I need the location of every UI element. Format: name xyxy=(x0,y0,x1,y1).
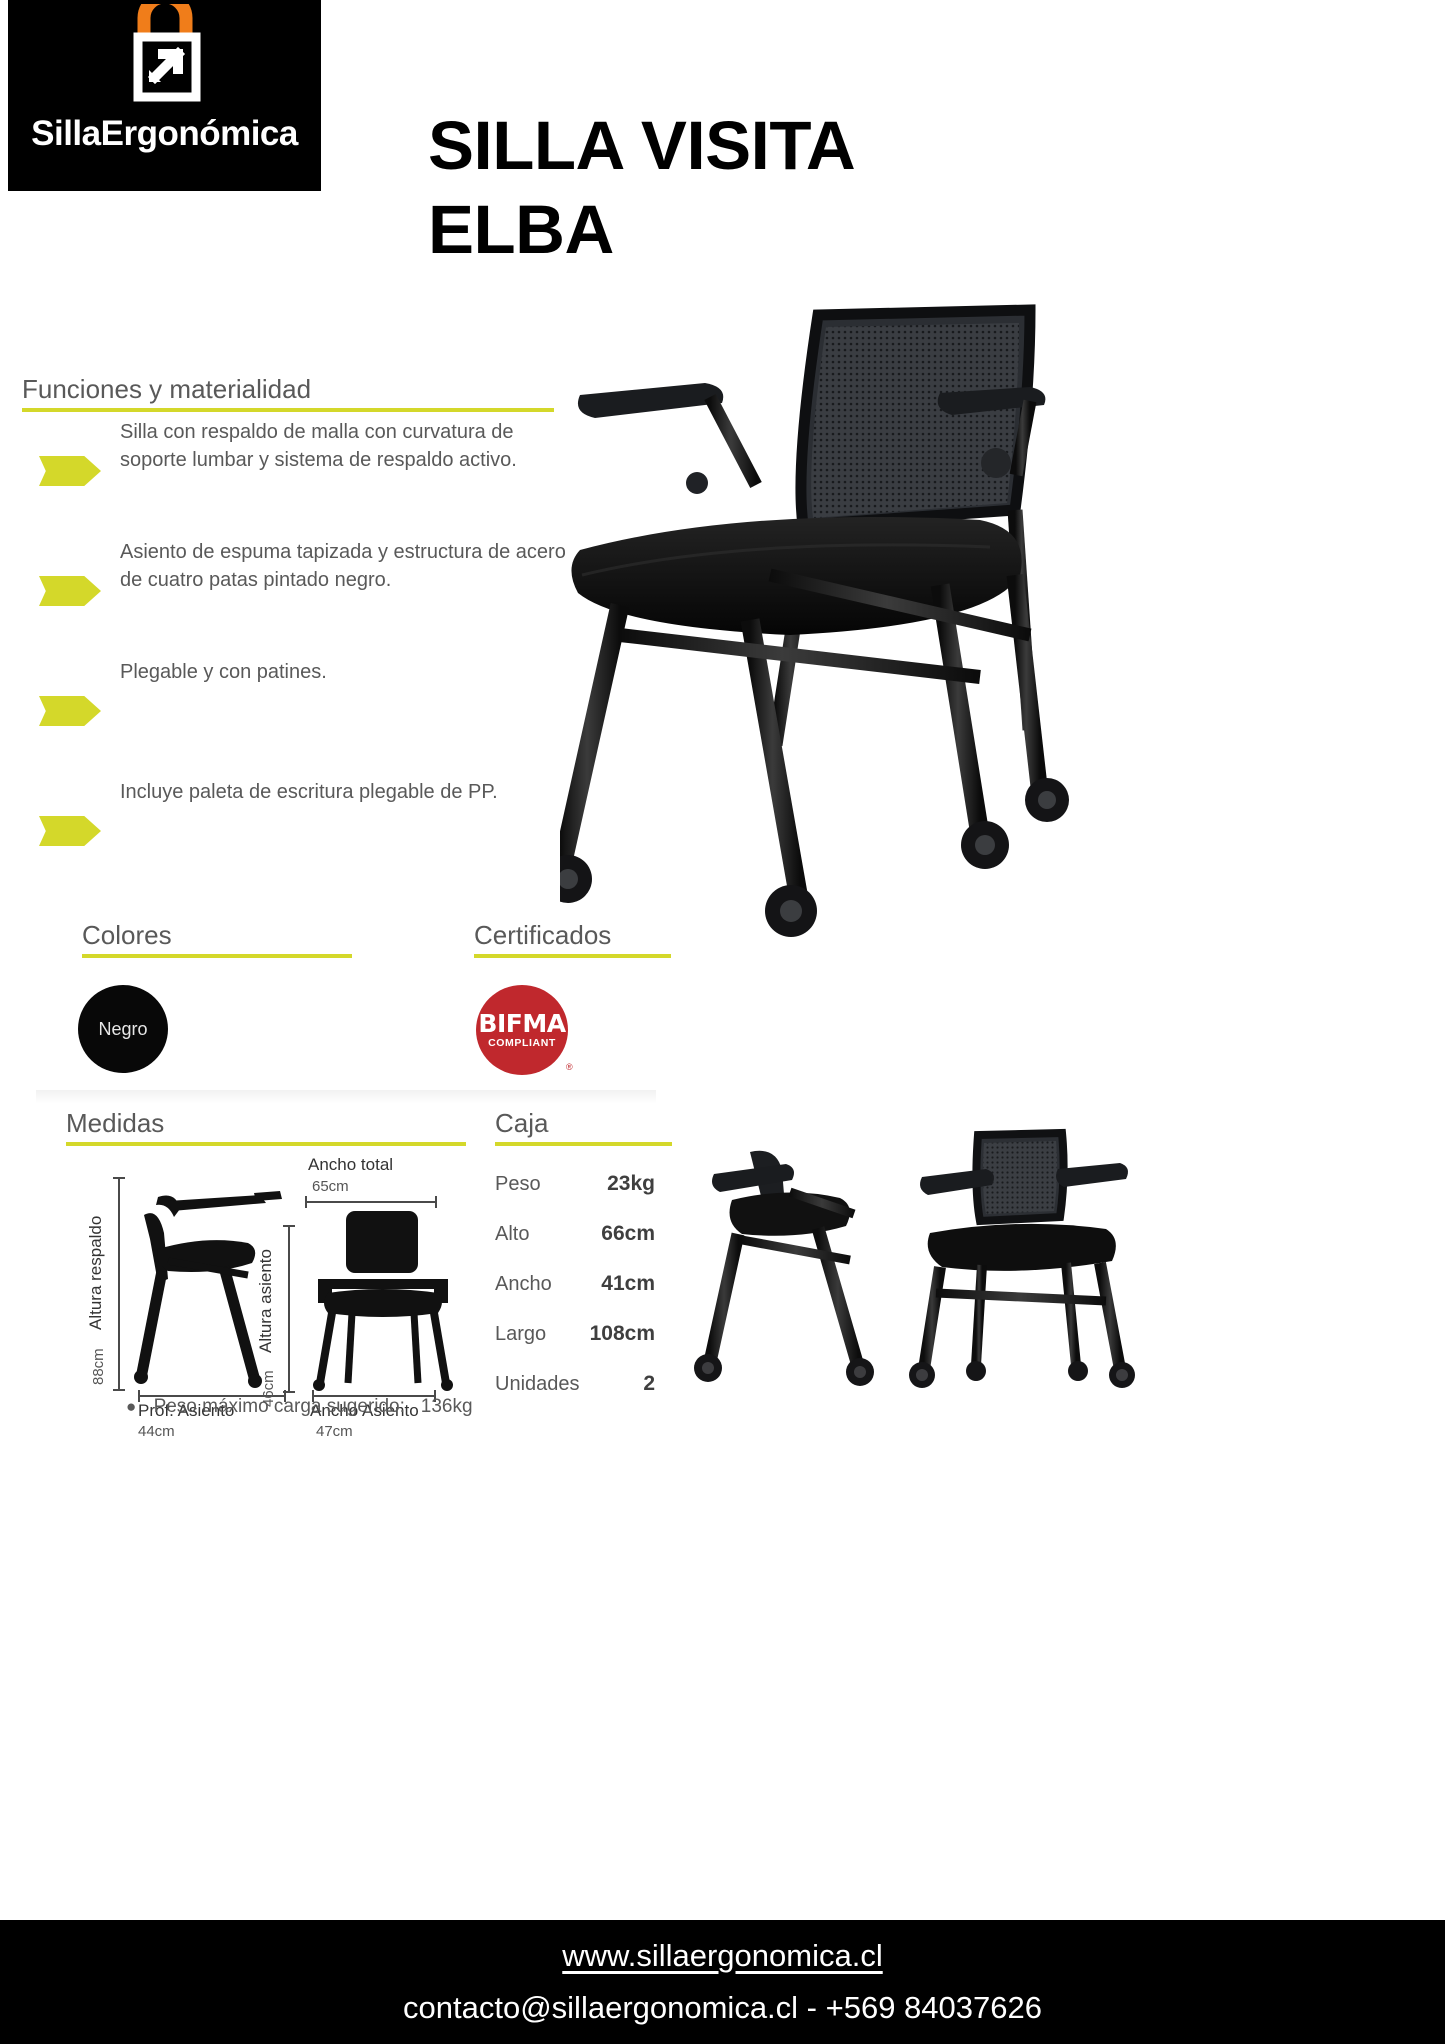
features-heading: Funciones y materialidad xyxy=(22,374,554,405)
feature-text: Plegable y con patines. xyxy=(120,658,570,686)
feature-text: Incluye paleta de escritura plegable de … xyxy=(120,778,570,806)
bifma-badge-subtitle: COMPLIANT xyxy=(488,1037,556,1049)
dimension-line-vertical xyxy=(288,1225,290,1391)
dimension-line-horizontal xyxy=(305,1201,437,1203)
box-row-value: 41cm xyxy=(601,1272,655,1296)
bifma-compliant-badge-icon: BIFMA COMPLIANT xyxy=(476,985,568,1075)
product-photo-angled xyxy=(900,1125,1145,1405)
dimension-cap xyxy=(113,1389,125,1391)
chevron-bullet-icon xyxy=(39,576,101,606)
title-line-2: ELBA xyxy=(428,191,614,268)
measures-heading: Medidas xyxy=(66,1108,466,1139)
chevron-bullet-icon xyxy=(39,816,101,846)
dimension-cap xyxy=(113,1177,125,1179)
box-row-label: Unidades xyxy=(495,1373,580,1396)
max-load-value: 136kg xyxy=(421,1396,473,1417)
dimension-cap xyxy=(283,1391,295,1393)
footer: www.sillaergonomica.cl contacto@sillaerg… xyxy=(0,1920,1445,2044)
box-row-value: 23kg xyxy=(607,1172,655,1196)
chevron-bullet-icon xyxy=(39,456,101,486)
feature-text: Asiento de espuma tapizada y estructura … xyxy=(120,538,570,595)
chevron-bullet-icon xyxy=(39,696,101,726)
product-photo-folded-side xyxy=(690,1140,910,1405)
bifma-badge-name: BIFMA xyxy=(478,1011,565,1036)
certificates-section-header: Certificados xyxy=(474,920,671,958)
certificates-heading: Certificados xyxy=(474,920,671,951)
colors-section-header: Colores xyxy=(82,920,352,958)
brand-logo-box: SillaErgonómica xyxy=(8,0,321,191)
box-row-value: 2 xyxy=(643,1372,655,1396)
title-line-1: SILLA VISITA xyxy=(428,107,855,184)
certificates-heading-rule xyxy=(474,954,671,958)
ancho-total-label: Ancho total xyxy=(308,1155,393,1175)
bullet-dot-icon: ● xyxy=(126,1397,136,1417)
features-heading-rule xyxy=(22,408,554,412)
altura-respaldo-value: 88cm xyxy=(90,1333,107,1385)
dimension-cap xyxy=(283,1225,295,1227)
box-row-label: Largo xyxy=(495,1323,546,1346)
page-title: SILLA VISITA ELBA xyxy=(428,104,1048,272)
colors-heading: Colores xyxy=(82,920,352,951)
table-row: Ancho 41cm xyxy=(495,1272,655,1322)
color-swatch-label: Negro xyxy=(98,1019,147,1040)
list-item: Asiento de espuma tapizada y estructura … xyxy=(22,538,567,658)
box-section-header: Caja xyxy=(495,1108,672,1146)
box-heading-rule xyxy=(495,1142,672,1146)
product-photo-main xyxy=(560,275,1445,975)
features-list: Silla con respaldo de malla con curvatur… xyxy=(22,418,567,898)
table-row: Alto 66cm xyxy=(495,1222,655,1272)
max-load-label: Peso máximo carga sugerido: xyxy=(154,1396,405,1417)
max-load-note: ● Peso máximo carga sugerido: 136kg xyxy=(126,1396,473,1418)
color-swatch-negro: Negro xyxy=(78,985,168,1073)
altura-respaldo-label: Altura respaldo xyxy=(86,1180,106,1330)
list-item: Silla con respaldo de malla con curvatur… xyxy=(22,418,567,538)
box-row-label: Peso xyxy=(495,1173,541,1196)
features-section-header: Funciones y materialidad xyxy=(22,374,554,412)
prof-asiento-value: 44cm xyxy=(138,1423,175,1440)
list-item: Incluye paleta de escritura plegable de … xyxy=(22,778,567,898)
box-specs-table: Peso 23kg Alto 66cm Ancho 41cm Largo 108… xyxy=(495,1172,655,1422)
ancho-total-value: 65cm xyxy=(312,1178,349,1195)
table-row: Unidades 2 xyxy=(495,1372,655,1422)
section-divider-shadow xyxy=(36,1090,656,1104)
box-row-label: Ancho xyxy=(495,1273,552,1296)
table-row: Largo 108cm xyxy=(495,1322,655,1372)
box-row-label: Alto xyxy=(495,1223,529,1246)
shopping-bag-arrow-icon xyxy=(110,4,220,116)
dimension-diagrams: Altura respaldo 88cm Prof. Asiento 44cm … xyxy=(60,1145,480,1410)
colors-heading-rule xyxy=(82,954,352,958)
box-row-value: 108cm xyxy=(590,1322,655,1346)
box-heading: Caja xyxy=(495,1108,672,1139)
contact-line: contacto@sillaergonomica.cl - +569 84037… xyxy=(403,1990,1042,2026)
list-item: Plegable y con patines. xyxy=(22,658,567,778)
registered-mark: ® xyxy=(566,1062,573,1072)
altura-asiento-label: Altura asiento xyxy=(256,1217,276,1353)
dimension-line-vertical xyxy=(118,1177,120,1389)
feature-text: Silla con respaldo de malla con curvatur… xyxy=(120,418,570,475)
measures-section-header: Medidas xyxy=(66,1108,466,1146)
ancho-asiento-value: 47cm xyxy=(316,1423,353,1440)
table-row: Peso 23kg xyxy=(495,1172,655,1222)
brand-wordmark: SillaErgonómica xyxy=(31,116,298,151)
dimension-cap xyxy=(305,1196,307,1208)
box-row-value: 66cm xyxy=(601,1222,655,1246)
website-link[interactable]: www.sillaergonomica.cl xyxy=(562,1938,882,1974)
